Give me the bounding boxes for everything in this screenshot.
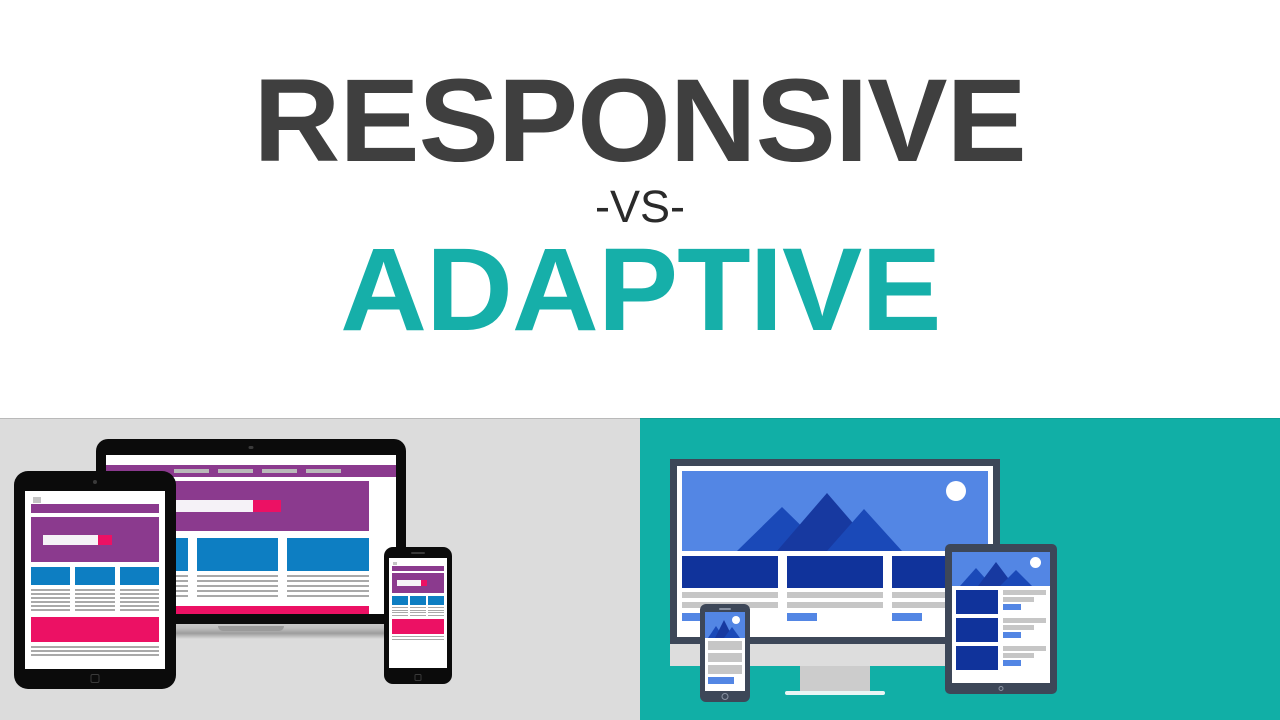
- card-button[interactable]: [892, 613, 922, 621]
- home-button-icon[interactable]: [722, 693, 729, 700]
- card-button[interactable]: [787, 613, 817, 621]
- tablet-hero: [31, 517, 159, 562]
- phone-content-lines: [705, 638, 745, 674]
- mountains-icon: [682, 471, 988, 551]
- tablet-screen: [25, 491, 165, 669]
- row-meta: [1003, 590, 1046, 614]
- row-thumbnail: [956, 590, 998, 614]
- phone-screen: [389, 558, 447, 668]
- card-text-lines: [75, 589, 114, 611]
- card-text-lines: [31, 589, 70, 611]
- mountains-icon: [705, 612, 745, 638]
- page-title-responsive: RESPONSIVE: [254, 64, 1026, 180]
- laptop-notch: [218, 626, 284, 631]
- nav-item-2[interactable]: [218, 469, 253, 473]
- phone-card-row: [392, 596, 444, 617]
- tablet-device-right: [945, 544, 1057, 694]
- card-image: [682, 556, 778, 588]
- monitor-foot: [785, 691, 885, 695]
- page-root: RESPONSIVE -VS- ADAPTIVE: [0, 0, 1280, 720]
- card-3: [120, 567, 159, 613]
- row-button[interactable]: [1003, 632, 1021, 638]
- tablet-body: [14, 471, 176, 689]
- title-block: RESPONSIVE -VS- ADAPTIVE: [0, 0, 1280, 418]
- nav-item-3[interactable]: [262, 469, 297, 473]
- hero-cta-button[interactable]: [421, 580, 427, 586]
- earpiece-speaker-icon: [719, 608, 731, 610]
- monitor-hero-banner: [682, 471, 988, 551]
- hero-cta-button[interactable]: [253, 500, 281, 512]
- card-1: [392, 596, 408, 617]
- tablet-footer-band: [31, 617, 159, 642]
- card-1: [31, 567, 70, 613]
- list-item: [952, 614, 1050, 642]
- home-button-icon[interactable]: [999, 686, 1004, 691]
- title-separator-vs: -VS-: [595, 184, 685, 229]
- card-2: [787, 556, 883, 621]
- content-line: [708, 641, 742, 650]
- card-text-line: [682, 592, 778, 598]
- card-image: [787, 556, 883, 588]
- phone-device-left: [384, 547, 452, 684]
- earpiece-speaker-icon: [411, 552, 425, 554]
- card-image: [197, 538, 279, 571]
- card-image: [287, 538, 369, 571]
- nav-item-1[interactable]: [174, 469, 209, 473]
- phone-device-right: [700, 604, 750, 702]
- row-button[interactable]: [1003, 660, 1021, 666]
- row-button[interactable]: [1003, 604, 1021, 610]
- monitor-stand: [800, 666, 870, 691]
- list-item: [952, 586, 1050, 614]
- tablet-device-left: [14, 471, 176, 689]
- card-3: [428, 596, 444, 617]
- laptop-browser-topbar: [106, 455, 396, 465]
- page-title-adaptive: ADAPTIVE: [340, 233, 940, 349]
- row-meta: [1003, 618, 1046, 642]
- home-button-icon[interactable]: [91, 674, 100, 683]
- tablet-footer-lines: [31, 646, 159, 656]
- mountains-icon: [952, 552, 1050, 586]
- row-thumbnail: [956, 646, 998, 670]
- card-image: [428, 596, 444, 605]
- phone-nav-bar: [392, 566, 444, 571]
- home-button-icon[interactable]: [415, 674, 422, 681]
- content-line: [708, 665, 742, 674]
- webcam-icon: [249, 446, 254, 449]
- row-meta: [1003, 646, 1046, 670]
- row-text-line: [1003, 618, 1046, 623]
- card-image: [75, 567, 114, 585]
- hero-cta-button[interactable]: [98, 535, 112, 545]
- card-text-line: [787, 592, 883, 598]
- card-text-lines: [197, 575, 279, 597]
- phone-body: [700, 604, 750, 702]
- phone-hero: [392, 573, 444, 593]
- card-text-lines: [392, 607, 408, 616]
- card-2: [197, 538, 279, 600]
- card-image: [31, 567, 70, 585]
- card-text-lines: [120, 589, 159, 611]
- card-3: [287, 538, 369, 600]
- tablet-hero-banner: [952, 552, 1050, 586]
- content-line: [708, 653, 742, 662]
- phone-footer-lines: [392, 636, 444, 640]
- phone-hero-banner: [705, 612, 745, 638]
- row-text-line: [1003, 625, 1034, 630]
- phone-body: [384, 547, 452, 684]
- tablet-card-row: [31, 567, 159, 613]
- list-item: [952, 642, 1050, 670]
- hero-input-field[interactable]: [397, 580, 421, 586]
- row-text-line: [1003, 597, 1034, 602]
- phone-footer-band: [392, 619, 444, 634]
- row-text-line: [1003, 590, 1046, 595]
- panel-responsive: [0, 418, 640, 720]
- tablet-body: [945, 544, 1057, 694]
- hamburger-menu-icon[interactable]: [33, 497, 41, 503]
- panel-adaptive: [640, 418, 1280, 720]
- card-image: [392, 596, 408, 605]
- front-camera-icon: [93, 480, 97, 484]
- hero-input-field[interactable]: [43, 535, 98, 545]
- hamburger-menu-icon[interactable]: [393, 562, 397, 565]
- tablet-screen: [952, 552, 1050, 683]
- tablet-browser-topbar: [31, 495, 159, 504]
- phone-cta-button[interactable]: [708, 677, 734, 684]
- card-text-lines: [410, 607, 426, 616]
- card-text-line: [787, 602, 883, 608]
- card-2: [75, 567, 114, 613]
- illustration-panels: [0, 418, 1280, 720]
- phone-screen: [705, 612, 745, 691]
- card-image: [410, 596, 426, 605]
- row-text-line: [1003, 653, 1034, 658]
- card-text-lines: [287, 575, 369, 597]
- row-thumbnail: [956, 618, 998, 642]
- nav-item-4[interactable]: [306, 469, 341, 473]
- card-2: [410, 596, 426, 617]
- card-image: [120, 567, 159, 585]
- card-text-lines: [428, 607, 444, 616]
- tablet-nav-bar: [31, 504, 159, 513]
- row-text-line: [1003, 646, 1046, 651]
